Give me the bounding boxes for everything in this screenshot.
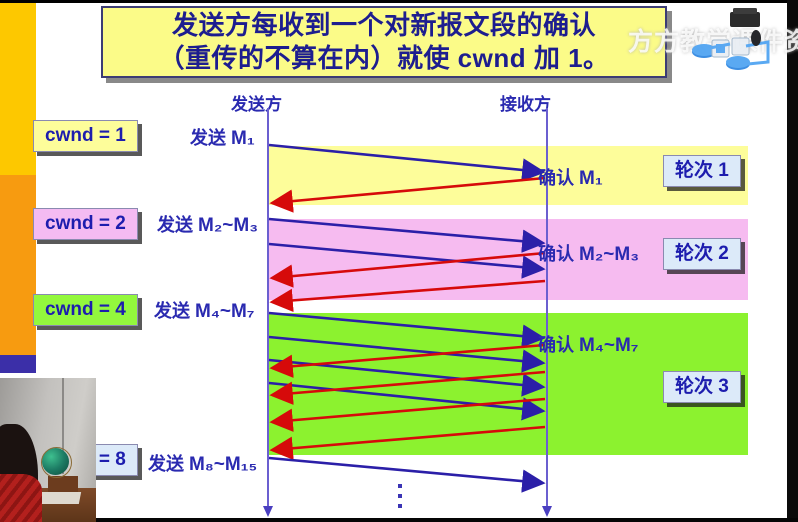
cwnd-label-1: cwnd = 1 — [33, 120, 138, 152]
data-arrow-r4-1 — [269, 458, 543, 483]
ellipsis-dot — [398, 484, 402, 488]
sidebar-rail-blue — [0, 355, 36, 373]
timeline-sender-arrowhead — [263, 506, 273, 517]
webcam-globe-stand — [48, 476, 78, 492]
ack-segments-1: M₁ — [579, 168, 603, 189]
ack-segments-2: M₂~M₃ — [579, 244, 639, 265]
send-segments-4: M₈~M₁₅ — [189, 454, 257, 475]
send-verb-4: 发送 — [148, 454, 184, 474]
send-label-2: 发送 M₂~M₃ — [157, 211, 258, 237]
ellipsis-dot — [398, 504, 402, 508]
frame-bottom-border — [0, 518, 798, 522]
column-header-sender: 发送方 — [231, 90, 282, 115]
frame-top-border — [0, 0, 798, 3]
round-label-1: 轮次 1 — [663, 155, 741, 187]
ack-verb-1: 确认 — [538, 168, 574, 188]
send-segments-2: M₂~M₃ — [198, 215, 258, 236]
webcam-globe-ring — [41, 447, 72, 478]
send-segments-1: M₁ — [231, 128, 255, 149]
ack-verb-3: 确认 — [538, 335, 574, 355]
title-banner: 发送方每收到一个对新报文段的确认 （重传的不算在内）就使 cwnd 加 1。 — [101, 6, 667, 78]
webcam-overlay[interactable] — [0, 378, 96, 522]
timeline-receiver-arrowhead — [542, 506, 552, 517]
sidebar-rail-gold — [0, 3, 36, 175]
ack-segments-3: M₄~M₇ — [579, 335, 638, 356]
send-label-4: 发送 M₈~M₁₅ — [148, 450, 257, 476]
vertical-ellipsis — [398, 484, 402, 508]
send-segments-3: M₄~M₇ — [195, 301, 254, 322]
network-devices-icon — [686, 6, 782, 80]
title-line-1: 发送方每收到一个对新报文段的确认 — [172, 9, 596, 42]
send-label-1: 发送 M₁ — [190, 124, 255, 150]
column-header-receiver: 接收方 — [500, 90, 551, 115]
round-label-3: 轮次 3 — [663, 371, 741, 403]
cwnd-label-3: cwnd = 4 — [33, 294, 138, 326]
sidebar-rail-orange — [0, 175, 36, 355]
webcam-person-clothing — [0, 474, 42, 522]
cwnd-label-2: cwnd = 2 — [33, 208, 138, 240]
ack-label-2: 确认 M₂~M₃ — [538, 240, 639, 266]
round-label-2: 轮次 2 — [663, 238, 741, 270]
ellipsis-dot — [398, 494, 402, 498]
send-verb-1: 发送 — [190, 128, 226, 148]
ack-label-1: 确认 M₁ — [538, 164, 603, 190]
frame-right-border — [787, 0, 798, 522]
slide-canvas: 发送方每收到一个对新报文段的确认 （重传的不算在内）就使 cwnd 加 1。 方… — [0, 0, 798, 522]
send-verb-2: 发送 — [157, 215, 193, 235]
title-line-2: （重传的不算在内）就使 cwnd 加 1。 — [158, 42, 609, 75]
send-label-3: 发送 M₄~M₇ — [154, 297, 254, 323]
ack-label-3: 确认 M₄~M₇ — [538, 331, 638, 357]
send-verb-3: 发送 — [154, 301, 190, 321]
timeline-sender — [267, 108, 269, 508]
ack-verb-2: 确认 — [538, 244, 574, 264]
